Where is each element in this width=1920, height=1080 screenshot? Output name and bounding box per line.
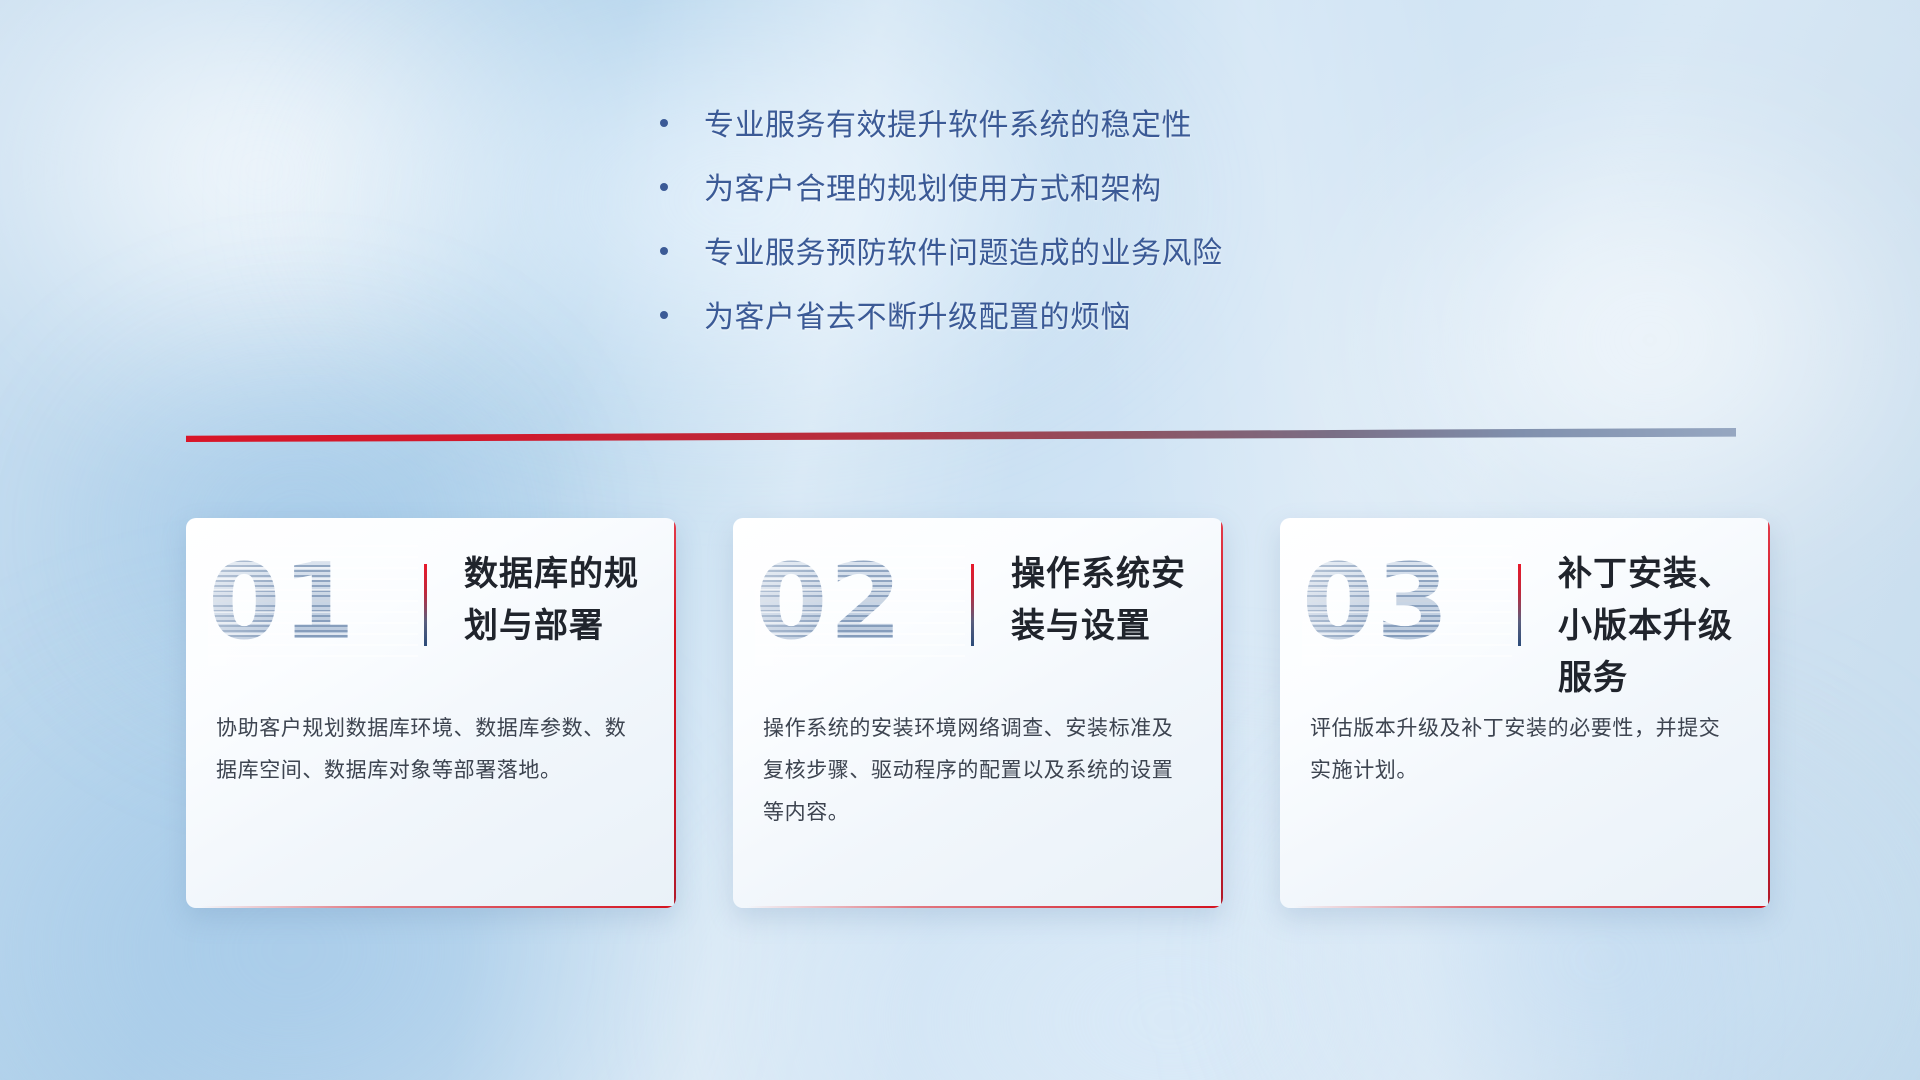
card-header: 03 补丁安装、小版本升级服务 [1280, 518, 1770, 694]
section-divider [186, 428, 1736, 442]
bullet-text: 专业服务预防软件问题造成的业务风险 [704, 232, 1223, 276]
card-description: 协助客户规划数据库环境、数据库参数、数据库空间、数据库对象等部署落地。 [216, 708, 644, 792]
list-item: 专业服务有效提升软件系统的稳定性 [660, 104, 1420, 148]
list-item: 为客户省去不断升级配置的烦恼 [660, 296, 1420, 340]
bullet-text: 专业服务有效提升软件系统的稳定性 [704, 104, 1192, 148]
card-description: 操作系统的安装环境网络调查、安装标准及复核步骤、驱动程序的配置以及系统的设置等内… [763, 708, 1191, 834]
bullet-text: 为客户合理的规划使用方式和架构 [704, 168, 1162, 212]
card-description: 评估版本升级及补丁安装的必要性，并提交实施计划。 [1310, 708, 1738, 792]
list-item: 为客户合理的规划使用方式和架构 [660, 168, 1420, 212]
bullet-dot-icon [660, 311, 668, 319]
card-number-watermark: 02 [755, 542, 965, 666]
service-card-02[interactable]: 02 操作系统安装与设置 操作系统的安装环境网络调查、安装标准及复核步骤、驱动程… [733, 518, 1223, 908]
card-number-watermark: 01 [208, 542, 418, 666]
title-separator [1518, 564, 1521, 646]
benefits-bullet-list: 专业服务有效提升软件系统的稳定性 为客户合理的规划使用方式和架构 专业服务预防软… [660, 104, 1420, 340]
card-number-watermark: 03 [1302, 542, 1512, 666]
service-card-01[interactable]: 01 数据库的规划与部署 协助客户规划数据库环境、数据库参数、数据库空间、数据库… [186, 518, 676, 908]
card-number-text: 01 [208, 542, 408, 662]
card-number-text: 03 [1302, 542, 1502, 662]
card-title: 补丁安装、小版本升级服务 [1558, 548, 1744, 704]
title-separator [971, 564, 974, 646]
card-header: 01 数据库的规划与部署 [186, 518, 676, 694]
service-card-03[interactable]: 03 补丁安装、小版本升级服务 评估版本升级及补丁安装的必要性，并提交实施计划。 [1280, 518, 1770, 908]
card-header: 02 操作系统安装与设置 [733, 518, 1223, 694]
card-title: 数据库的规划与部署 [464, 548, 650, 652]
service-card-group: 01 数据库的规划与部署 协助客户规划数据库环境、数据库参数、数据库空间、数据库… [186, 518, 1770, 908]
card-title: 操作系统安装与设置 [1011, 548, 1197, 652]
title-separator [424, 564, 427, 646]
bullet-text: 为客户省去不断升级配置的烦恼 [704, 296, 1131, 340]
divider-bar [186, 428, 1736, 442]
bullet-dot-icon [660, 183, 668, 191]
card-number-text: 02 [755, 542, 955, 662]
bullet-dot-icon [660, 119, 668, 127]
list-item: 专业服务预防软件问题造成的业务风险 [660, 232, 1420, 276]
bullet-dot-icon [660, 247, 668, 255]
